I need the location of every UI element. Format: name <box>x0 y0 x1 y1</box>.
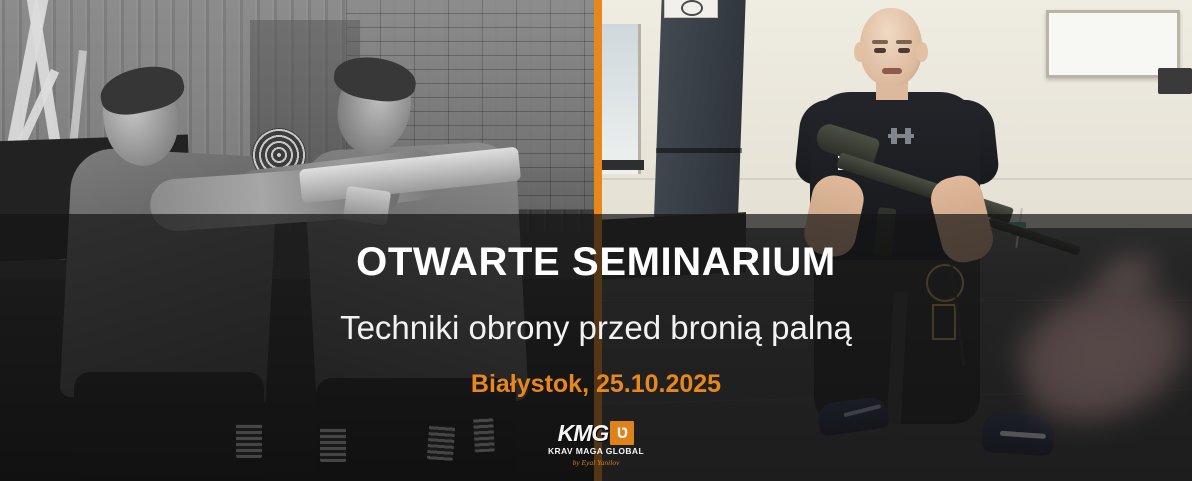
instructor-eye <box>898 48 910 53</box>
pillar-sign <box>664 0 718 18</box>
kmg-logo-row: KMG ט <box>542 421 650 445</box>
instructor-eyebrow <box>872 40 888 44</box>
instructor-ear <box>854 42 866 62</box>
kmg-wordmark: KMG <box>558 421 609 445</box>
instructor-ear <box>916 42 928 62</box>
window-sill <box>602 160 644 170</box>
seminar-banner: OTWARTE SEMINARIUM Techniki obrony przed… <box>0 0 1192 481</box>
kmg-signature: by Eyal Yanilov <box>542 458 650 467</box>
instructor-eye <box>874 48 886 53</box>
hebrew-glyph-icon: ט <box>610 421 634 445</box>
kmg-full-name: KRAV MAGA GLOBAL <box>542 446 650 456</box>
wall-mount-bracket <box>1158 68 1192 94</box>
window <box>602 24 641 174</box>
instructor-mouth <box>882 68 902 74</box>
instructor-head <box>860 8 922 86</box>
instructor-eyebrow <box>896 40 912 44</box>
kmg-logo: KMG ט KRAV MAGA GLOBAL by Eyal Yanilov <box>542 421 650 467</box>
pillar-seam <box>656 148 742 153</box>
under-armour-logo <box>888 128 914 144</box>
